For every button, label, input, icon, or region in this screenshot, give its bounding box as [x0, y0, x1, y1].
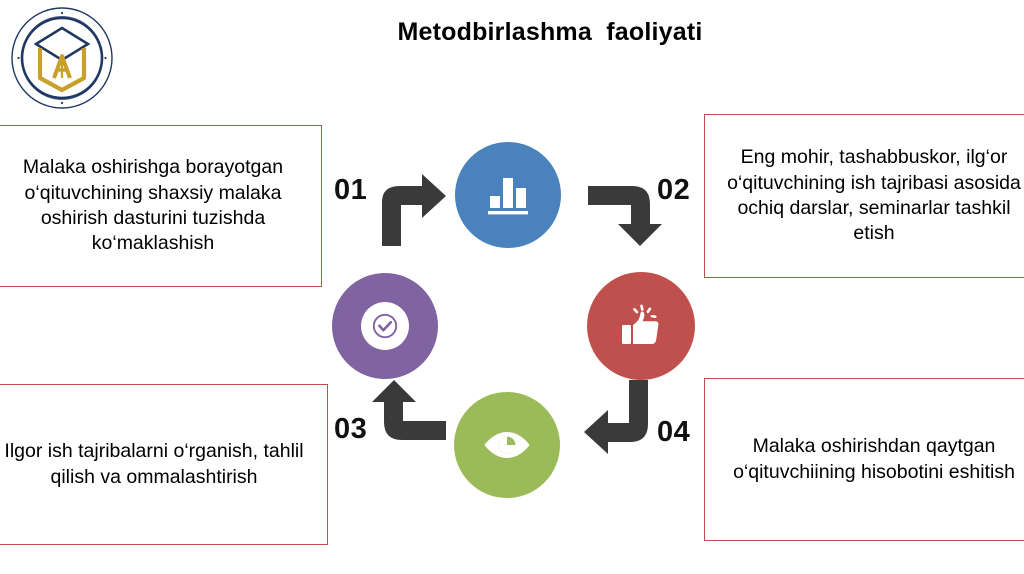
cycle-node-bottom[interactable]: [454, 392, 560, 498]
callout-top-right: Eng mohir, tashabbuskor, ilg‘or o‘qituvc…: [704, 114, 1024, 278]
callout-bottom-right: Malaka oshirishdan qaytgan o‘qituvchiini…: [704, 378, 1024, 541]
arrow-elbow-left-up-icon: [372, 380, 446, 454]
slide-canvas: Metodbirlashma faoliyati Malaka oshirish…: [0, 0, 1024, 574]
step-number-03: 03: [334, 413, 367, 446]
cycle-node-left[interactable]: [332, 273, 438, 379]
arrow-elbow-down-left-icon: [582, 380, 656, 454]
cycle-node-top[interactable]: [455, 142, 561, 248]
check-circle-icon: [361, 302, 409, 350]
eye-icon: [482, 429, 532, 461]
slide-title: Metodbirlashma faoliyati: [200, 18, 900, 47]
step-number-01: 01: [334, 174, 367, 207]
arrow-elbow-up-right-icon: [374, 172, 448, 246]
thumbs-up-icon: [616, 301, 666, 351]
step-number-04: 04: [657, 416, 690, 449]
arrow-elbow-right-down-icon: [588, 172, 662, 246]
callout-top-left: Malaka oshirishga borayotgan o‘qituvchin…: [0, 125, 322, 287]
cycle-node-right[interactable]: [587, 272, 695, 380]
organization-logo: [10, 6, 114, 110]
bar-chart-icon: [484, 172, 532, 218]
callout-bottom-left: Ilgor ish tajribalarni o‘rganish, tahlil…: [0, 384, 328, 545]
cycle-diagram: 01 02 03 04: [320, 128, 712, 490]
